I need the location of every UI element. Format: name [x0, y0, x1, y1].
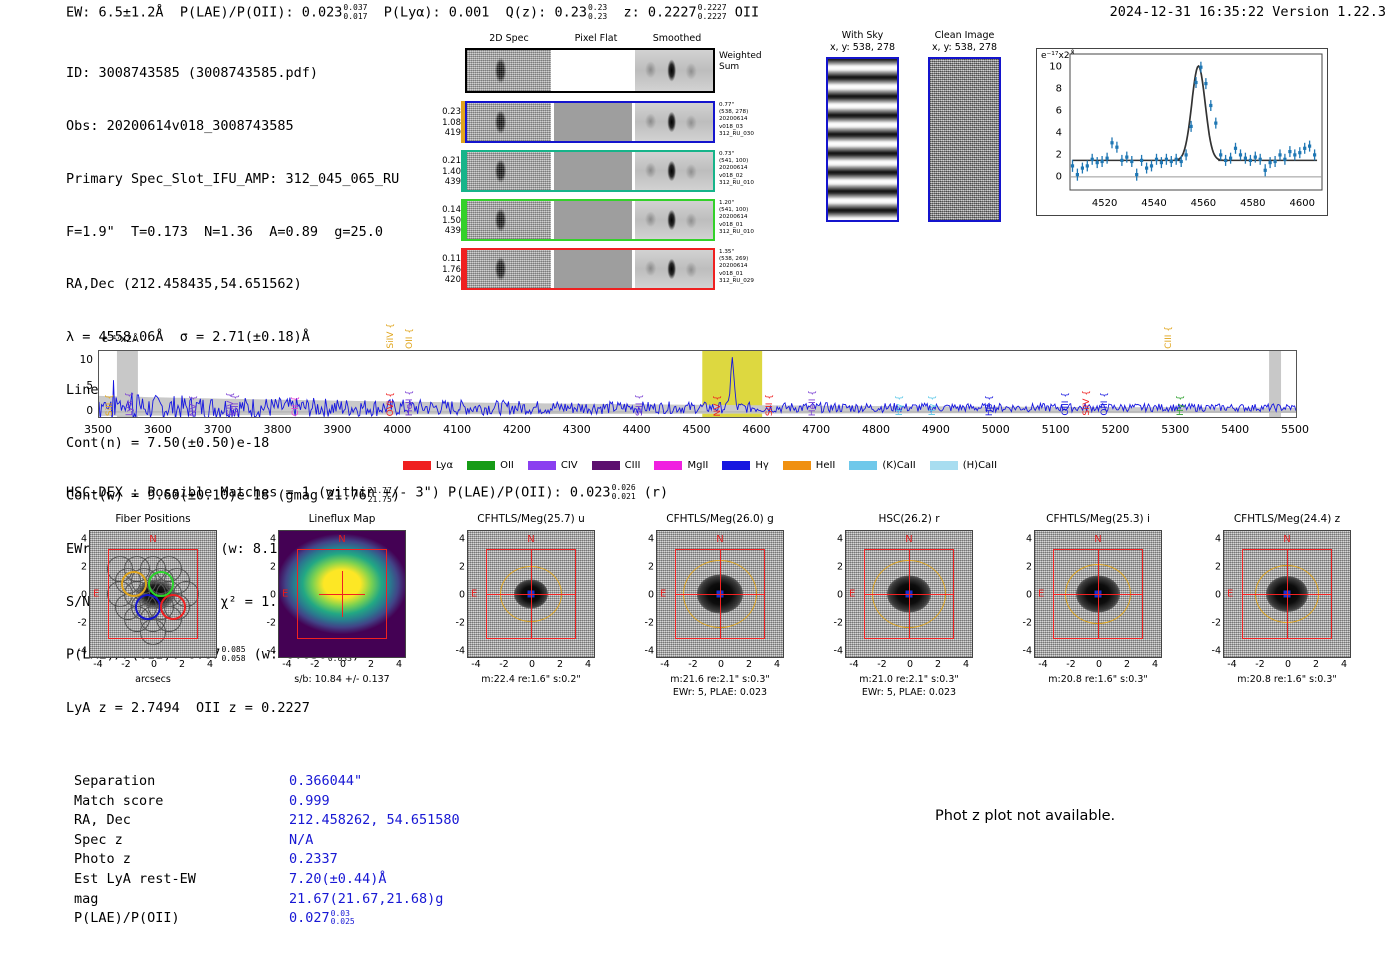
- crosshair-vertical: [1287, 549, 1288, 640]
- cell-smoothed: [635, 250, 713, 288]
- cutout-title: CFHTLS/Meg(26.0) g: [627, 512, 813, 526]
- cutout-caption-line1: m:22.4 re:1.6" s:0.2": [438, 674, 624, 687]
- legend-label: (K)CaII: [882, 460, 915, 471]
- cutout-xtick: -4: [1227, 659, 1236, 670]
- cutout-panel: Fiber PositionsNE420-2-4-4-2024arcsecs: [60, 512, 246, 658]
- header-plya: P(Lyα): 0.001: [384, 5, 490, 21]
- spec2d-panel: 2D Spec Pixel Flat Smoothed Weighted Sum…: [425, 33, 765, 261]
- emission-line-label: CIII {: [1164, 326, 1174, 349]
- cutout-ytick: -2: [645, 618, 654, 629]
- cutout-caption-line1: m:21.6 re:2.1" s:0.3": [627, 674, 813, 687]
- match-table-plae-errors: 0.030.025: [331, 910, 355, 927]
- match-table-label: Spec z: [74, 831, 289, 851]
- east-label: E: [1038, 589, 1044, 600]
- north-label: N: [527, 534, 534, 545]
- cutout-xtick: -2: [121, 659, 130, 670]
- cutout-image: NE420-2-4-4-2024: [89, 530, 217, 658]
- cell-pixelflat: [554, 152, 632, 190]
- cutout-xtick: -4: [1038, 659, 1047, 670]
- cutout-image: NE420-2-4-4-2024: [845, 530, 973, 658]
- cutout-ytick: -2: [1023, 618, 1032, 629]
- cutout-caption-line1: m:20.8 re:1.6" s:0.3": [1005, 674, 1191, 687]
- cutout-panel: CFHTLS/Meg(26.0) gNE420-2-4-4-2024m:21.6…: [627, 512, 813, 658]
- match-details-table: Separation0.366044"Match score0.999RA, D…: [74, 772, 460, 929]
- cutout-title: Lineflux Map: [249, 512, 435, 526]
- cutout-image: NE420-2-4-4-2024: [656, 530, 784, 658]
- east-label: E: [471, 589, 477, 600]
- emission-line-label: OVI {: [386, 392, 396, 416]
- emission-line-label: OIII {: [1061, 392, 1071, 416]
- thumbnail-title: Clean Imagex, y: 538, 278: [928, 30, 1001, 54]
- match-table-row: Match score0.999: [74, 792, 460, 812]
- legend-swatch: [528, 461, 556, 470]
- cutout-ytick: 2: [648, 562, 654, 573]
- spec2d-row: [465, 248, 715, 290]
- emission-line-label: CIV {: [226, 392, 236, 416]
- line-profile-ytick: 2: [1056, 149, 1062, 160]
- north-label: N: [905, 534, 912, 545]
- east-label: E: [849, 589, 855, 600]
- emission-line-label: SiIV {: [1082, 390, 1092, 416]
- cutout-xtick: 2: [179, 659, 185, 670]
- match-table-row: mag21.67(21.67,21.68)g: [74, 890, 460, 910]
- cutout-ytick: 4: [1215, 534, 1221, 545]
- legend-label: HeII: [816, 460, 836, 471]
- east-label: E: [660, 589, 666, 600]
- spectrum-xtick: 4100: [443, 423, 471, 436]
- spectrum-xtick: 5300: [1161, 423, 1189, 436]
- cutout-panel: CFHTLS/Meg(25.7) uNE420-2-4-4-2024m:22.4…: [438, 512, 624, 658]
- header-ew: EW: 6.5±1.2Å: [66, 5, 164, 21]
- header-qz-label: Q(z): 0.23: [506, 5, 587, 21]
- line-profile-ytick: 0: [1056, 171, 1062, 182]
- cutout-xtick: 0: [529, 659, 535, 670]
- cell-2dspec: [467, 152, 551, 190]
- cutout-ytick: -4: [834, 646, 843, 657]
- legend-item: Hγ: [722, 460, 768, 471]
- cutout-xtick: 0: [718, 659, 724, 670]
- emission-line-label: NV {: [713, 395, 723, 416]
- legend-item: CIV: [528, 460, 578, 471]
- cutout-title: Fiber Positions: [60, 512, 246, 526]
- match-table-row: P(LAE)/P(OII)0.0270.030.025: [74, 909, 460, 929]
- spectrum-legend: LyαOIICIVCIIIMgIIHγHeII(K)CaII(H)CaII: [0, 460, 1400, 471]
- header-z-species: OII: [735, 5, 759, 21]
- match-table-value: 0.2337: [289, 851, 338, 867]
- cutout-caption: m:21.6 re:2.1" s:0.3"EWr: 5, PLAE: 0.023: [627, 674, 813, 699]
- spec2d-row-color-tab: [461, 248, 465, 290]
- line-profile-ytick: 10: [1049, 62, 1062, 73]
- cutout-caption: m:20.8 re:1.6" s:0.3": [1005, 674, 1191, 687]
- crosshair-vertical: [531, 549, 532, 640]
- legend-label: (H)CaII: [963, 460, 997, 471]
- cutout-panel: HSC(26.2) rNE420-2-4-4-2024m:21.0 re:2.1…: [816, 512, 1002, 658]
- spec2d-row: [465, 199, 715, 241]
- cutout-image: NE420-2-4-4-2024: [1223, 530, 1351, 658]
- cutout-xtick: 0: [340, 659, 346, 670]
- cutout-xtick: 0: [907, 659, 913, 670]
- north-label: N: [338, 534, 345, 545]
- emission-line-label: OIII {: [1100, 392, 1110, 416]
- cutout-ytick: 0: [1026, 590, 1032, 601]
- legend-item: (K)CaII: [849, 460, 915, 471]
- cutout-panel: CFHTLS/Meg(25.3) iNE420-2-4-4-2024m:20.8…: [1005, 512, 1191, 658]
- legend-label: MgII: [687, 460, 708, 471]
- cell-smoothed: [635, 103, 713, 141]
- legend-item: MgII: [654, 460, 708, 471]
- emission-line-label: CII {: [291, 396, 301, 416]
- spec2d-row: [465, 101, 715, 143]
- crosshair-vertical: [342, 571, 343, 616]
- cutout-ytick: 0: [1215, 590, 1221, 601]
- full-spectrum-svg: [99, 351, 1296, 417]
- cell-pixelflat: [554, 103, 632, 141]
- thumbnail-with-sky: With Skyx, y: 538, 278: [826, 30, 899, 222]
- header-z-label: z: 0.2227: [623, 5, 696, 21]
- cell-2dspec: [467, 103, 551, 141]
- spec2d-row-left-values: 0.211.40439: [423, 156, 461, 188]
- line-profile-xtick: 4600: [1290, 198, 1315, 209]
- cell-2dspec: [467, 250, 551, 288]
- hscdex-text: HSC-DEX : Possible Matches = 1 (within +…: [66, 485, 611, 501]
- cutout-ytick: -2: [267, 618, 276, 629]
- emission-line-label: NV {: [189, 395, 199, 416]
- emission-line-label: SiII {: [105, 394, 115, 416]
- north-label: N: [1094, 534, 1101, 545]
- cutout-xtick: 2: [1313, 659, 1319, 670]
- cutout-row: Fiber PositionsNE420-2-4-4-2024arcsecsLi…: [0, 512, 1400, 737]
- cutout-ytick: -2: [834, 618, 843, 629]
- spectrum-xtick: 4300: [563, 423, 591, 436]
- emission-line-label: SiII {: [635, 394, 645, 416]
- spectrum-xtick: 3800: [264, 423, 292, 436]
- spectrum-xtick: 4700: [802, 423, 830, 436]
- thumbnail-title: With Skyx, y: 538, 278: [826, 30, 899, 54]
- cutout-xtick: -2: [688, 659, 697, 670]
- north-label: N: [716, 534, 723, 545]
- hscdex-errors: 0.0260.021: [612, 484, 636, 501]
- match-table-label: RA, Dec: [74, 811, 289, 831]
- match-table-row: Photo z0.2337: [74, 850, 460, 870]
- info-id: ID: 3008743585 (3008743585.pdf): [66, 65, 400, 83]
- weighted-sum-label: Weighted Sum: [719, 51, 762, 73]
- spectrum-xtick: 5400: [1221, 423, 1249, 436]
- hscdex-match-header: HSC-DEX : Possible Matches = 1 (within +…: [66, 484, 668, 501]
- cutout-ytick: 0: [81, 590, 87, 601]
- cutout-xtick: -4: [471, 659, 480, 670]
- legend-item: (H)CaII: [930, 460, 997, 471]
- emission-line-label: SiIV {: [386, 323, 396, 349]
- info-seeing: F=1.9" T=0.173 N=1.36 A=0.89 g=25.0: [66, 224, 400, 242]
- header-qz-errors: 0.230.23: [588, 4, 607, 21]
- line-profile-xtick: 4520: [1092, 198, 1117, 209]
- spectrum-xtick: 5100: [1042, 423, 1070, 436]
- cutout-ytick: 4: [837, 534, 843, 545]
- legend-label: CIII: [625, 460, 641, 471]
- spectrum-xtick: 3900: [323, 423, 351, 436]
- cell-2dspec: [467, 50, 551, 91]
- cutout-title: CFHTLS/Meg(24.4) z: [1194, 512, 1380, 526]
- hscdex-filter: (r): [644, 485, 668, 501]
- cutout-caption: m:22.4 re:1.6" s:0.2": [438, 674, 624, 687]
- match-table-label: mag: [74, 890, 289, 910]
- spec2d-col-title-smoothed: Smoothed: [637, 33, 717, 44]
- cutout-xtick: -2: [1255, 659, 1264, 670]
- spectrum-xtick: 4400: [623, 423, 651, 436]
- info-radec: RA,Dec (212.458435,54.651562): [66, 276, 400, 294]
- spectrum-xtick: 4900: [922, 423, 950, 436]
- cell-smoothed: [635, 201, 713, 239]
- match-table-value: N/A: [289, 832, 313, 848]
- full-spectrum-unit-label: e⁻¹⁷x2Å: [102, 334, 139, 345]
- cutout-caption-line1: s/b: 10.84 +/- 0.137: [249, 674, 435, 687]
- crosshair-vertical: [909, 549, 910, 640]
- cell-pixelflat: [554, 50, 632, 91]
- cutout-caption: m:21.0 re:2.1" s:0.3"EWr: 5, PLAE: 0.023: [816, 674, 1002, 699]
- cutout-xtick: -2: [499, 659, 508, 670]
- thumbnail-image: [928, 57, 1001, 222]
- spectrum-xtick: 5200: [1101, 423, 1129, 436]
- cutout-ytick: 2: [81, 562, 87, 573]
- spectrum-ytick: 10: [80, 354, 93, 366]
- cutout-xtick: 0: [151, 659, 157, 670]
- cutout-title: CFHTLS/Meg(25.7) u: [438, 512, 624, 526]
- cutout-xlabel: arcsecs: [60, 674, 246, 687]
- legend-swatch: [403, 461, 431, 470]
- emission-line-label: Hγ {: [928, 395, 938, 416]
- crosshair-vertical: [720, 549, 721, 640]
- legend-swatch: [783, 461, 811, 470]
- emission-line-label: HeII {: [405, 390, 415, 416]
- legend-swatch: [849, 461, 877, 470]
- cutout-xtick: -4: [660, 659, 669, 670]
- spec2d-row-left-values: 0.141.50439: [423, 205, 461, 237]
- spec2d-row-right-meta: 1.35"(538, 269)20200614v018_01312_RU_029: [719, 249, 779, 285]
- info-primary-spec: Primary Spec_Slot_IFU_AMP: 312_045_065_R…: [66, 171, 400, 189]
- cutout-xtick: -4: [849, 659, 858, 670]
- cutout-xtick: -2: [1066, 659, 1075, 670]
- legend-swatch: [722, 461, 750, 470]
- spec2d-row-color-tab: [461, 101, 465, 143]
- thumbnail-image: [826, 57, 899, 222]
- cutout-xtick: 4: [585, 659, 591, 670]
- match-table-value: 0.027: [289, 910, 330, 926]
- match-table-value: 212.458262, 54.651580: [289, 812, 460, 828]
- spectrum-xtick: 4800: [862, 423, 890, 436]
- cutout-ytick: 0: [837, 590, 843, 601]
- spec2d-row-color-tab: [461, 150, 465, 192]
- spec2d-row-left-values: 0.111.76420: [423, 254, 461, 286]
- emission-line-label: Hγ {: [895, 395, 905, 416]
- header-z-errors: 0.22270.2227: [698, 4, 727, 21]
- cutout-xtick: 4: [1341, 659, 1347, 670]
- spectrum-xtick: 4000: [383, 423, 411, 436]
- match-table-row: RA, Dec212.458262, 54.651580: [74, 811, 460, 831]
- cutout-xtick: 4: [1152, 659, 1158, 670]
- match-table-value: 0.366044": [289, 773, 362, 789]
- cell-2dspec: [467, 201, 551, 239]
- cutout-caption: s/b: 10.84 +/- 0.137: [249, 674, 435, 687]
- match-table-label: Match score: [74, 792, 289, 812]
- emission-line-label: Hβ {: [985, 395, 995, 416]
- match-table-row: Est LyA rest-EW7.20(±0.44)Å: [74, 870, 460, 890]
- photz-plot-message: Phot z plot not available.: [935, 808, 1115, 824]
- match-table-value: 0.999: [289, 793, 330, 809]
- spec2d-col-title-2dspec: 2D Spec: [465, 33, 553, 44]
- cutout-image: NE420-2-4-4-2024: [1034, 530, 1162, 658]
- line-profile-plot: e⁻¹⁷x2Å 024681045204540456045804600: [1036, 48, 1328, 216]
- legend-label: OII: [500, 460, 514, 471]
- cutout-ytick: -2: [1212, 618, 1221, 629]
- full-spectrum-plot: e⁻¹⁷x2Å 05103500360037003800390040004100…: [98, 350, 1297, 418]
- spectrum-ytick: 5: [86, 380, 93, 392]
- match-table-value: 7.20(±0.44)Å: [289, 871, 387, 887]
- emission-line-label: OII {: [405, 328, 415, 349]
- match-table-row: Spec zN/A: [74, 831, 460, 851]
- cutout-ytick: 4: [270, 534, 276, 545]
- legend-swatch: [467, 461, 495, 470]
- spec2d-row: [465, 48, 715, 93]
- cutout-ytick: -4: [78, 646, 87, 657]
- emission-line-label: SiII {: [765, 394, 775, 416]
- cutout-xtick: 2: [1124, 659, 1130, 670]
- spec2d-row-right-meta: 1.20"(541, 100)20200614v018_01312_RU_010: [719, 200, 779, 236]
- cutout-ytick: -2: [456, 618, 465, 629]
- cutout-panel: Lineflux MapNE420-2-4-4-2024s/b: 10.84 +…: [249, 512, 435, 658]
- east-label: E: [93, 589, 99, 600]
- header-plae-errors: 0.0370.017: [343, 4, 367, 21]
- cutout-ytick: 2: [837, 562, 843, 573]
- cutout-ytick: 0: [648, 590, 654, 601]
- cutout-ytick: 4: [459, 534, 465, 545]
- legend-label: CIV: [561, 460, 578, 471]
- cutout-xtick: 2: [557, 659, 563, 670]
- cutout-xtick: 4: [963, 659, 969, 670]
- line-profile-ytick: 6: [1056, 106, 1062, 117]
- spectrum-xtick: 5500: [1281, 423, 1309, 436]
- cutout-xtick: -2: [310, 659, 319, 670]
- legend-item: HeII: [783, 460, 836, 471]
- cell-smoothed: [635, 152, 713, 190]
- cutout-panel: CFHTLS/Meg(24.4) zNE420-2-4-4-2024m:20.8…: [1194, 512, 1380, 658]
- cutout-xtick: 0: [1096, 659, 1102, 670]
- cutout-xtick: 2: [368, 659, 374, 670]
- spec2d-row-color-tab: [461, 199, 465, 241]
- line-profile-xtick: 4580: [1240, 198, 1265, 209]
- cutout-title: CFHTLS/Meg(25.3) i: [1005, 512, 1191, 526]
- cell-smoothed: [635, 50, 713, 91]
- cutout-xtick: -4: [282, 659, 291, 670]
- line-profile-xtick: 4540: [1141, 198, 1166, 209]
- spectrum-ytick: 0: [86, 405, 93, 417]
- cutout-caption: arcsecs: [60, 674, 246, 687]
- line-profile-xtick: 4560: [1191, 198, 1216, 209]
- cutout-image: NE420-2-4-4-2024: [278, 530, 406, 658]
- match-table-label: P(LAE)/P(OII): [74, 909, 289, 929]
- line-profile-svg: [1036, 48, 1328, 216]
- legend-item: CIII: [592, 460, 641, 471]
- emission-line-label: Hγ {: [1176, 395, 1186, 416]
- east-label: E: [1227, 589, 1233, 600]
- cutout-ytick: 2: [270, 562, 276, 573]
- summary-header: EW: 6.5±1.2Å P(LAE)/P(OII): 0.0230.0370.…: [66, 4, 759, 21]
- cutout-ytick: -4: [1023, 646, 1032, 657]
- cutout-ytick: 2: [1215, 562, 1221, 573]
- cutout-caption-line2: EWr: 5, PLAE: 0.023: [627, 687, 813, 700]
- cutout-ytick: -4: [645, 646, 654, 657]
- cutout-ytick: -4: [1212, 646, 1221, 657]
- spectrum-xtick: 5000: [982, 423, 1010, 436]
- spectrum-xtick: 4600: [742, 423, 770, 436]
- thumbnail-clean-image: Clean Imagex, y: 538, 278: [928, 30, 1001, 222]
- line-profile-ytick: 8: [1056, 84, 1062, 95]
- cutout-ytick: 4: [1026, 534, 1032, 545]
- spectrum-xtick: 4500: [683, 423, 711, 436]
- cutout-xtick: -2: [877, 659, 886, 670]
- cutout-xtick: 4: [396, 659, 402, 670]
- cutout-ytick: 4: [648, 534, 654, 545]
- match-table-row: Separation0.366044": [74, 772, 460, 792]
- full-spectrum-frame: [98, 350, 1297, 418]
- match-table-value: 21.67(21.67,21.68)g: [289, 891, 443, 907]
- timestamp-version: 2024-12-31 16:35:22 Version 1.22.3: [1110, 4, 1386, 20]
- cutout-red-box: [108, 549, 199, 640]
- crosshair-vertical: [1098, 549, 1099, 640]
- legend-swatch: [930, 461, 958, 470]
- legend-label: Lyα: [436, 460, 453, 471]
- cutout-title: HSC(26.2) r: [816, 512, 1002, 526]
- spectrum-xtick: 3500: [84, 423, 112, 436]
- cutout-caption-line2: EWr: 5, PLAE: 0.023: [816, 687, 1002, 700]
- cutout-ytick: -2: [78, 618, 87, 629]
- match-table-label: Photo z: [74, 850, 289, 870]
- emission-line-label: Lyα {: [125, 392, 135, 416]
- cutout-caption-line1: m:21.0 re:2.1" s:0.3": [816, 674, 1002, 687]
- cutout-ytick: -4: [456, 646, 465, 657]
- legend-item: Lyα: [403, 460, 453, 471]
- spec2d-row-right-meta: 0.77"(538, 278)20200614v018_03312_RU_030: [719, 102, 779, 138]
- spec2d-row-right-meta: 0.73"(541, 100)20200614v018_02312_RU_010: [719, 151, 779, 187]
- cutout-ytick: 2: [459, 562, 465, 573]
- cutout-xtick: 2: [746, 659, 752, 670]
- cutout-ytick: 0: [459, 590, 465, 601]
- cutout-image: NE420-2-4-4-2024: [467, 530, 595, 658]
- emission-line-label: HeII {: [808, 390, 818, 416]
- east-label: E: [282, 589, 288, 600]
- cutout-ytick: 4: [81, 534, 87, 545]
- line-profile-ytick: 4: [1056, 127, 1062, 138]
- legend-item: OII: [467, 460, 514, 471]
- cutout-ytick: 0: [270, 590, 276, 601]
- cutout-ytick: -4: [267, 646, 276, 657]
- cutout-xtick: 0: [1285, 659, 1291, 670]
- spec2d-row: [465, 150, 715, 192]
- cutout-xtick: 4: [207, 659, 213, 670]
- cutout-xtick: 4: [774, 659, 780, 670]
- spectrum-xtick: 3700: [204, 423, 232, 436]
- match-table-label: Separation: [74, 772, 289, 792]
- legend-swatch: [654, 461, 682, 470]
- cell-pixelflat: [554, 201, 632, 239]
- match-table-label: Est LyA rest-EW: [74, 870, 289, 890]
- legend-label: Hγ: [755, 460, 768, 471]
- north-label: N: [149, 534, 156, 545]
- info-cont-n: Cont(n) = 7.50(±0.50)e-18: [66, 435, 400, 453]
- header-plae-label: P(LAE)/P(OII): 0.023: [180, 5, 343, 21]
- cutout-xtick: 2: [935, 659, 941, 670]
- cutout-ytick: 2: [1026, 562, 1032, 573]
- spectrum-xtick: 4200: [503, 423, 531, 436]
